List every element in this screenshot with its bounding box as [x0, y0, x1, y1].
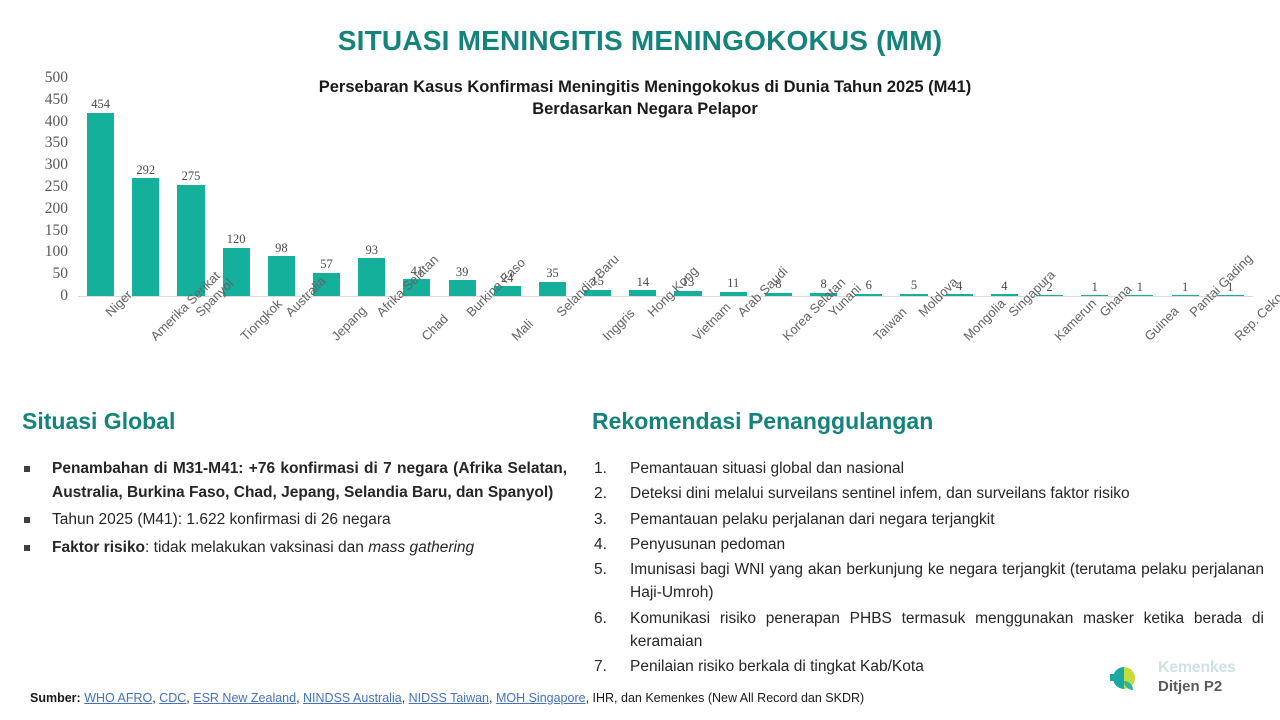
list-item: Komunikasi risiko penerapan PHBS termasu…: [592, 607, 1264, 654]
bar[interactable]: [87, 113, 114, 296]
bar-value-label: 39: [456, 266, 469, 279]
x-axis-slot: Tiongkok: [214, 298, 259, 408]
page-title: SITUASI MENINGITIS MENINGOKOKUS (MM): [0, 25, 1280, 57]
faktor-risiko-text: : tidak melakukan vaksinasi dan: [145, 539, 368, 556]
x-axis-slot: Arab Saudi: [711, 298, 756, 408]
bar-group[interactable]: 275: [168, 78, 213, 296]
x-axis-slot: Niger: [78, 298, 123, 408]
faktor-risiko-label: Faktor risiko: [52, 539, 145, 556]
bar-group[interactable]: 14: [620, 78, 665, 296]
y-axis-tick: 200: [45, 200, 68, 218]
source-tail: , IHR, dan Kemenkes (New All Record dan …: [586, 691, 865, 705]
y-axis-tick: 100: [45, 243, 68, 261]
bar-value-label: 1: [1182, 281, 1188, 294]
bar-series: 4542922751209857934139243515141311886544…: [78, 78, 1253, 296]
bar[interactable]: [132, 178, 159, 296]
list-item: Faktor risiko: tidak melakukan vaksinasi…: [22, 536, 567, 560]
situasi-global-list: Penambahan di M31-M41: +76 konfirmasi di…: [22, 457, 567, 559]
y-axis-tick: 0: [60, 287, 68, 305]
list-item: Imunisasi bagi WNI yang akan berkunjung …: [592, 558, 1264, 605]
x-axis-slot: Jepang: [304, 298, 349, 408]
bar-group[interactable]: 120: [214, 78, 259, 296]
list-item: Tahun 2025 (M41): 1.622 konfirmasi di 26…: [22, 508, 567, 532]
kemenkes-logo: Kemenkes Ditjen P2: [1108, 658, 1258, 704]
bar[interactable]: [449, 280, 476, 296]
bar[interactable]: [539, 282, 566, 296]
ditjen-p2-label: Ditjen P2: [1158, 678, 1258, 696]
y-axis-tick: 250: [45, 178, 68, 196]
slide-canvas: SITUASI MENINGITIS MENINGOKOKUS (MM) Per…: [0, 0, 1280, 720]
bar-group[interactable]: 454: [78, 78, 123, 296]
bar-group[interactable]: 4: [982, 78, 1027, 296]
x-axis-slot: Singapura: [982, 298, 1027, 408]
bar-group[interactable]: 57: [304, 78, 349, 296]
bar[interactable]: [1172, 295, 1199, 296]
situasi-global-heading: Situasi Global: [22, 408, 567, 435]
bar-group[interactable]: 39: [440, 78, 485, 296]
bar[interactable]: [358, 258, 385, 296]
bar-group[interactable]: 98: [259, 78, 304, 296]
x-axis-labels: NigerAmerika SerikatSpanyolTiongkokAustr…: [78, 298, 1253, 408]
x-axis-slot: Rep. Ceko: [1208, 298, 1253, 408]
bar-value-label: 292: [136, 164, 155, 177]
bar-value-label: 5: [911, 279, 917, 292]
bar-group[interactable]: 4: [937, 78, 982, 296]
x-axis-slot: Burkina Faso: [440, 298, 485, 408]
kemenkes-logo-text: Kemenkes Ditjen P2: [1158, 660, 1258, 696]
bar-value-label: 1: [1137, 281, 1143, 294]
x-axis-slot: Mali: [485, 298, 530, 408]
bar-value-label: 1: [1092, 281, 1098, 294]
bar-value-label: 14: [637, 276, 650, 289]
x-axis-tick-label: Rep. Ceko: [1232, 290, 1280, 344]
bar[interactable]: [991, 294, 1018, 296]
source-link[interactable]: WHO AFRO: [84, 691, 152, 705]
list-item: Pemantauan pelaku perjalanan dari negara…: [592, 508, 1264, 531]
bar[interactable]: [720, 292, 747, 296]
bar-value-label: 93: [365, 244, 378, 257]
rekomendasi-heading: Rekomendasi Penanggulangan: [592, 408, 1264, 435]
y-axis-tick: 400: [45, 113, 68, 131]
bar-value-label: 275: [182, 170, 201, 183]
y-axis-tick: 150: [45, 222, 68, 240]
y-axis-tick: 450: [45, 91, 68, 109]
x-axis-slot: Pantai Gading: [1163, 298, 1208, 408]
list-item: Penyusunan pedoman: [592, 533, 1264, 556]
bar-value-label: 4: [1001, 280, 1007, 293]
x-axis-slot: Ghana: [1072, 298, 1117, 408]
y-axis-tick: 50: [53, 265, 69, 283]
bar[interactable]: [1081, 295, 1108, 296]
bar[interactable]: [900, 294, 927, 296]
kemenkes-wordmark: Kemenkes: [1158, 660, 1258, 675]
list-item: Deteksi dini melalui surveilans sentinel…: [592, 482, 1264, 505]
source-link[interactable]: CDC: [159, 691, 186, 705]
y-axis: 500450400350300250200150100500: [0, 78, 74, 296]
bar-group[interactable]: 1: [1117, 78, 1162, 296]
bar-group[interactable]: 1: [1163, 78, 1208, 296]
bar-value-label: 98: [275, 242, 288, 255]
x-axis-slot: Kamerun: [1027, 298, 1072, 408]
source-link[interactable]: NIDSS Taiwan: [409, 691, 489, 705]
x-axis-slot: Australia: [259, 298, 304, 408]
x-axis-slot: Afrika Selatan: [349, 298, 394, 408]
x-axis-slot: Guinea: [1117, 298, 1162, 408]
source-links: WHO AFRO, CDC, ESR New Zealand, NINDSS A…: [84, 691, 585, 705]
bar-value-label: 57: [320, 258, 333, 271]
bar-group[interactable]: 2: [1027, 78, 1072, 296]
bar-value-label: 11: [727, 277, 739, 290]
list-item: Penambahan di M31-M41: +76 konfirmasi di…: [22, 457, 567, 504]
x-axis-slot: Mongolia: [937, 298, 982, 408]
source-label: Sumber:: [30, 691, 81, 705]
bar[interactable]: [629, 290, 656, 296]
x-axis-slot: Spanyol: [168, 298, 213, 408]
x-axis-slot: Taiwan: [846, 298, 891, 408]
x-axis-slot: Vietnam: [665, 298, 710, 408]
source-link[interactable]: ESR New Zealand: [193, 691, 296, 705]
y-axis-tick: 350: [45, 134, 68, 152]
list-item: Pemantauan situasi global dan nasional: [592, 457, 1264, 480]
bar-value-label: 454: [91, 98, 110, 111]
bar-value-label: 120: [227, 233, 246, 246]
bar-group[interactable]: 13: [665, 78, 710, 296]
bar[interactable]: [268, 256, 295, 296]
kemenkes-logo-mark: [1108, 662, 1152, 700]
bar-group[interactable]: 11: [711, 78, 756, 296]
y-axis-tick: 300: [45, 156, 68, 174]
x-axis-slot: Moldova: [891, 298, 936, 408]
source-footer: Sumber: WHO AFRO, CDC, ESR New Zealand, …: [30, 690, 1080, 706]
source-link[interactable]: MOH Singapore: [496, 691, 586, 705]
x-axis-slot: Yunani: [801, 298, 846, 408]
x-axis-slot: Inggris: [575, 298, 620, 408]
bar-group[interactable]: 35: [530, 78, 575, 296]
bar-group[interactable]: 8: [801, 78, 846, 296]
x-axis-slot: Selandia Baru: [530, 298, 575, 408]
y-axis-tick: 500: [45, 69, 68, 87]
rekomendasi-list: Pemantauan situasi global dan nasionalDe…: [592, 457, 1264, 678]
source-link[interactable]: NINDSS Australia: [303, 691, 402, 705]
x-axis-slot: Hong Kong: [620, 298, 665, 408]
bar-group[interactable]: 292: [123, 78, 168, 296]
faktor-risiko-emphasis: mass gathering: [368, 539, 474, 556]
bar-value-label: 35: [546, 267, 559, 280]
bar-value-label: 6: [866, 279, 872, 292]
bar-group[interactable]: 1: [1072, 78, 1117, 296]
section-rekomendasi: Rekomendasi Penanggulangan Pemantauan si…: [592, 408, 1264, 680]
bar-group[interactable]: 93: [349, 78, 394, 296]
bar-chart: Persebaran Kasus Konfirmasi Meningitis M…: [0, 68, 1280, 368]
x-axis-slot: Amerika Serikat: [123, 298, 168, 408]
x-axis-slot: Chad: [394, 298, 439, 408]
bar-group[interactable]: 5: [891, 78, 936, 296]
section-situasi-global: Situasi Global Penambahan di M31-M41: +7…: [22, 408, 567, 563]
x-axis-slot: Korea Selatan: [756, 298, 801, 408]
bar-group[interactable]: 6: [846, 78, 891, 296]
